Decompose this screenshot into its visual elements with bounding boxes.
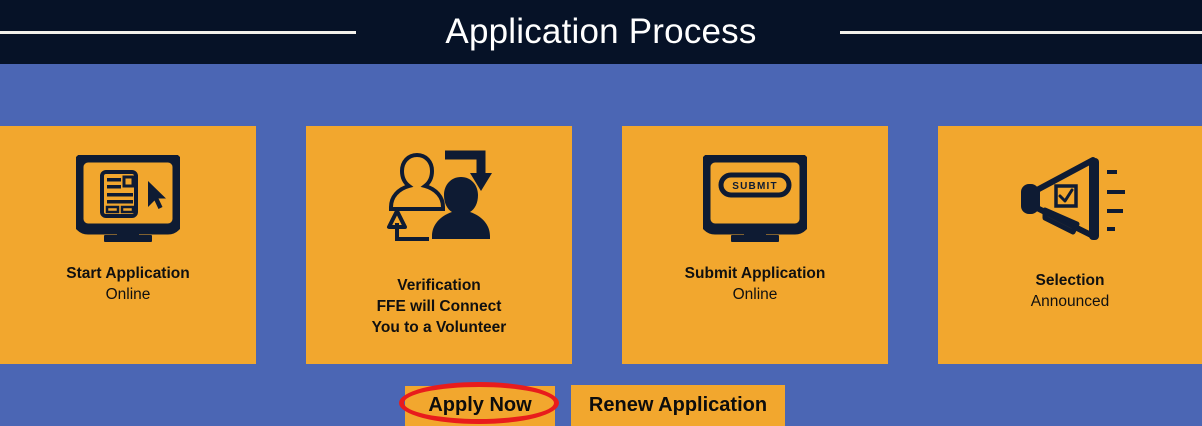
- process-step-subtitle-line: FFE will Connect: [306, 296, 572, 317]
- process-step-card-submit-application[interactable]: SUBMIT Submit Application Online: [622, 126, 888, 364]
- two-people-exchange-icon: [306, 144, 572, 260]
- page-header: Application Process: [0, 0, 1202, 64]
- process-step-text: Submit Application Online: [622, 264, 888, 305]
- monitor-document-cursor-icon: [0, 146, 256, 256]
- process-step-title: Start Application: [0, 264, 256, 284]
- process-step-text: Selection Announced: [938, 271, 1202, 312]
- submit-icon-label: SUBMIT: [732, 181, 778, 192]
- process-step-subtitle-line: Announced: [938, 291, 1202, 312]
- process-step-card-selection[interactable]: Selection Announced: [938, 126, 1202, 364]
- process-step-title: Submit Application: [622, 264, 888, 284]
- process-step-subtitle-line: Online: [0, 284, 256, 305]
- page-title: Application Process: [0, 0, 1202, 64]
- process-step-text: Verification FFE will Connect You to a V…: [306, 276, 572, 338]
- megaphone-checkbox-icon: [938, 140, 1202, 256]
- process-step-card-verification[interactable]: Verification FFE will Connect You to a V…: [306, 126, 572, 364]
- apply-now-button[interactable]: Apply Now: [405, 386, 555, 426]
- process-step-text: Start Application Online: [0, 264, 256, 305]
- process-steps-row: Start Application Online: [0, 126, 1202, 364]
- process-step-subtitle-line: Online: [622, 284, 888, 305]
- process-step-card-start-application[interactable]: Start Application Online: [0, 126, 256, 364]
- process-step-subtitle-line: You to a Volunteer: [306, 317, 572, 338]
- process-step-title: Selection: [938, 271, 1202, 291]
- process-step-title: Verification: [306, 276, 572, 296]
- monitor-submit-button-icon: SUBMIT: [622, 146, 888, 256]
- renew-application-button[interactable]: Renew Application: [571, 385, 785, 426]
- application-process-page: Application Process: [0, 0, 1202, 426]
